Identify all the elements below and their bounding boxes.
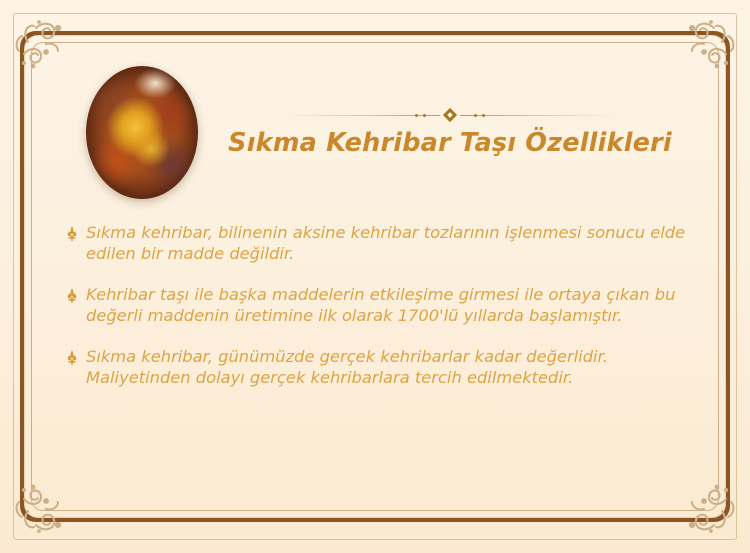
list-item-text: Sıkma kehribar, bilinenin aksine kehriba… [86, 222, 692, 264]
fleur-de-lis-bullet-icon [62, 348, 82, 368]
feature-list: Sıkma kehribar, bilinenin aksine kehriba… [62, 222, 692, 408]
title-block: Sıkma Kehribar Taşı Özellikleri [198, 108, 702, 158]
page-title: Sıkma Kehribar Taşı Özellikleri [198, 128, 702, 158]
corner-flourish-ornament-bottom-right [648, 451, 744, 547]
list-item-text: Kehribar taşı ile başka maddelerin etkil… [86, 284, 692, 326]
card-header: Sıkma Kehribar Taşı Özellikleri [0, 60, 750, 210]
list-item: Sıkma kehribar, bilinenin aksine kehriba… [62, 222, 692, 264]
ornamental-divider [285, 108, 615, 122]
corner-flourish-ornament-bottom-left [6, 451, 102, 547]
amber-stone-photo [86, 66, 198, 199]
divider-dot [415, 114, 418, 117]
list-item: Kehribar taşı ile başka maddelerin etkil… [62, 284, 692, 326]
divider-dot [482, 114, 485, 117]
divider-dot [423, 114, 426, 117]
divider-dot [474, 114, 477, 117]
info-card: Sıkma Kehribar Taşı Özellikleri Sıkma ke… [0, 0, 750, 553]
divider-diamond-icon [443, 108, 457, 122]
fleur-de-lis-bullet-icon [62, 224, 82, 244]
list-item: Sıkma kehribar, günümüzde gerçek kehriba… [62, 346, 692, 388]
list-item-text: Sıkma kehribar, günümüzde gerçek kehriba… [86, 346, 692, 388]
fleur-de-lis-bullet-icon [62, 286, 82, 306]
